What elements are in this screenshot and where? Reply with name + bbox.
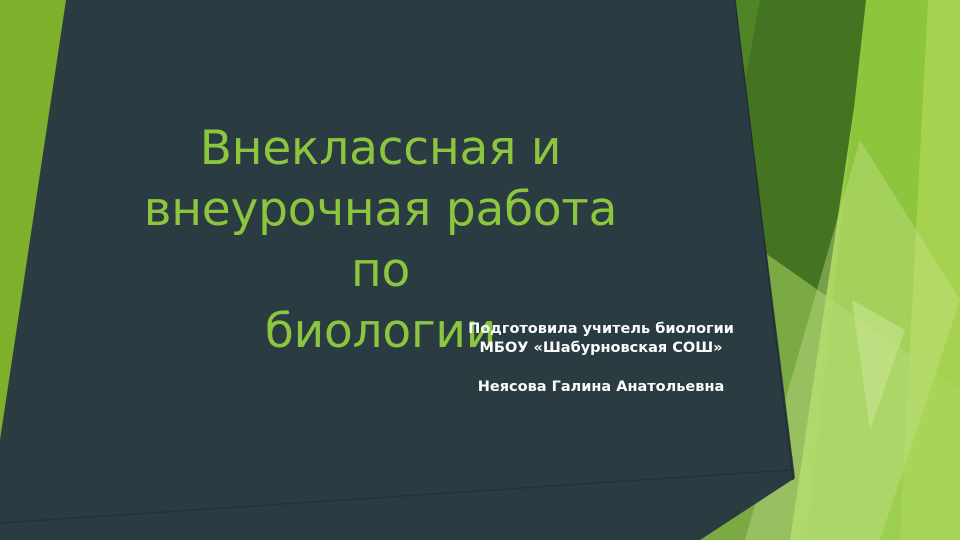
slide-content: Внеклассная и внеурочная работа по биоло… [0, 0, 960, 540]
subtitle-block: Подготовила учитель биологии МБОУ «Шабур… [440, 320, 762, 397]
subtitle-organization: Подготовила учитель биологии МБОУ «Шабур… [440, 320, 762, 358]
subtitle-author: Неясова Галина Анатольевна [440, 378, 762, 397]
presentation-slide: Внеклассная и внеурочная работа по биоло… [0, 0, 960, 540]
